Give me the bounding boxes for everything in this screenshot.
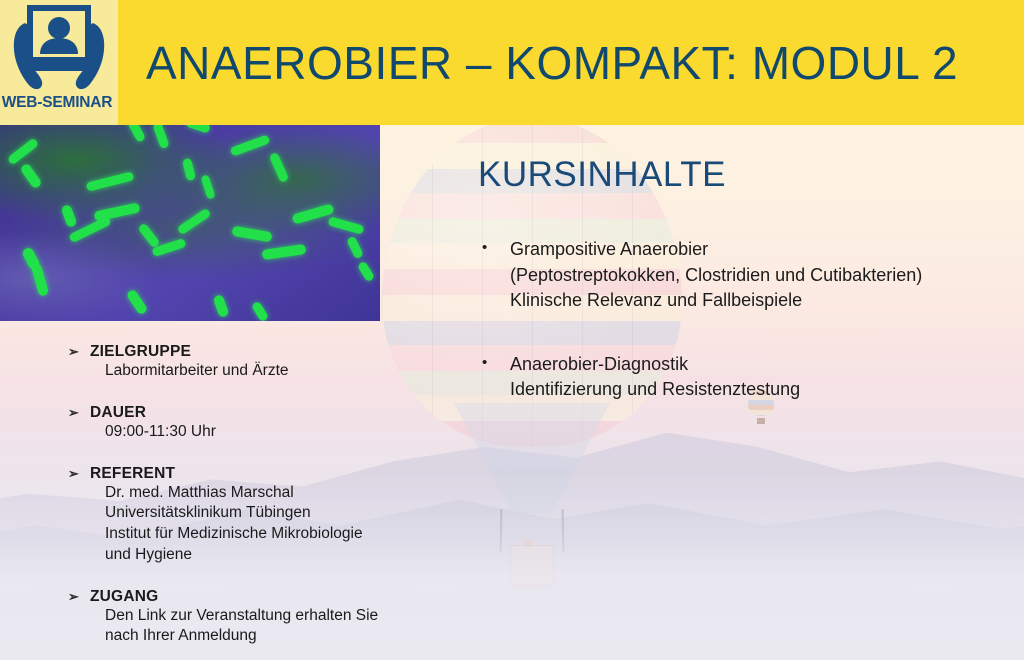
info-line: Labormitarbeiter und Ärzte (105, 361, 488, 382)
info-line: Dr. med. Matthias Marschal (105, 483, 488, 504)
bullet-line: (Peptostreptokokken, Clostridien und Cut… (510, 263, 922, 289)
bullet-line: Identifizierung und Resistenztestung (510, 377, 800, 403)
microscopy-image (0, 125, 380, 321)
info-block-referent: ➢ REFERENT Dr. med. Matthias Marschal Un… (68, 465, 488, 566)
bullet-dot-icon: • (478, 237, 510, 259)
info-heading-label: ZUGANG (90, 588, 158, 606)
info-line: Den Link zur Veranstaltung erhalten Sie (105, 606, 488, 627)
info-block-zugang: ➢ ZUGANG Den Link zur Veranstaltung erha… (68, 588, 488, 648)
webinar-slide: WEB-SEMINAR ANAEROBIER – KOMPAKT: MODUL … (0, 0, 1024, 660)
info-heading-label: ZIELGRUPPE (90, 343, 191, 361)
arrow-bullet-icon: ➢ (68, 588, 90, 605)
info-line: und Hygiene (105, 545, 488, 566)
webinar-logo-caption: WEB-SEMINAR (2, 94, 113, 112)
bullet-text: Grampositive Anaerobier (Peptostreptokok… (510, 237, 922, 314)
info-heading-label: DAUER (90, 404, 146, 422)
arrow-bullet-icon: ➢ (68, 343, 90, 360)
info-body: Labormitarbeiter und Ärzte (105, 361, 488, 382)
info-body: Den Link zur Veranstaltung erhalten Sie … (105, 606, 488, 648)
section-title: KURSINHALTE (478, 155, 1024, 195)
distant-balloon-basket (757, 418, 765, 424)
page-title: ANAEROBIER – KOMPAKT: MODUL 2 (146, 0, 958, 125)
bullet-line: Anaerobier-Diagnostik (510, 352, 800, 378)
info-block-dauer: ➢ DAUER 09:00-11:30 Uhr (68, 404, 488, 443)
webinar-hands-frame-person-icon (7, 2, 111, 98)
info-heading: ➢ DAUER (68, 404, 488, 422)
info-block-zielgruppe: ➢ ZIELGRUPPE Labormitarbeiter und Ärzte (68, 343, 488, 382)
bullet-item: • Grampositive Anaerobier (Peptostreptok… (478, 237, 1024, 314)
info-line: nach Ihrer Anmeldung (105, 626, 488, 647)
info-heading: ➢ REFERENT (68, 465, 488, 483)
arrow-bullet-icon: ➢ (68, 404, 90, 421)
info-body: Dr. med. Matthias Marschal Universitätsk… (105, 483, 488, 566)
info-heading-label: REFERENT (90, 465, 175, 483)
bullet-line: Klinische Relevanz und Fallbeispiele (510, 288, 922, 314)
info-line: Universitätsklinikum Tübingen (105, 503, 488, 524)
info-heading: ➢ ZIELGRUPPE (68, 343, 488, 361)
info-line: 09:00-11:30 Uhr (105, 422, 488, 443)
info-line: Institut für Medizinische Mikrobiologie (105, 524, 488, 545)
event-info-list: ➢ ZIELGRUPPE Labormitarbeiter und Ärzte … (68, 343, 488, 647)
bullet-item: • Anaerobier-Diagnostik Identifizierung … (478, 352, 1024, 403)
course-contents-section: KURSINHALTE • Grampositive Anaerobier (P… (478, 155, 1024, 403)
arrow-bullet-icon: ➢ (68, 465, 90, 482)
bullet-line: Grampositive Anaerobier (510, 237, 922, 263)
bullet-dot-icon: • (478, 352, 510, 374)
header-band: WEB-SEMINAR ANAEROBIER – KOMPAKT: MODUL … (0, 0, 1024, 125)
info-heading: ➢ ZUGANG (68, 588, 488, 606)
webinar-logo-panel: WEB-SEMINAR (0, 0, 118, 125)
info-body: 09:00-11:30 Uhr (105, 422, 488, 443)
bullet-text: Anaerobier-Diagnostik Identifizierung un… (510, 352, 800, 403)
